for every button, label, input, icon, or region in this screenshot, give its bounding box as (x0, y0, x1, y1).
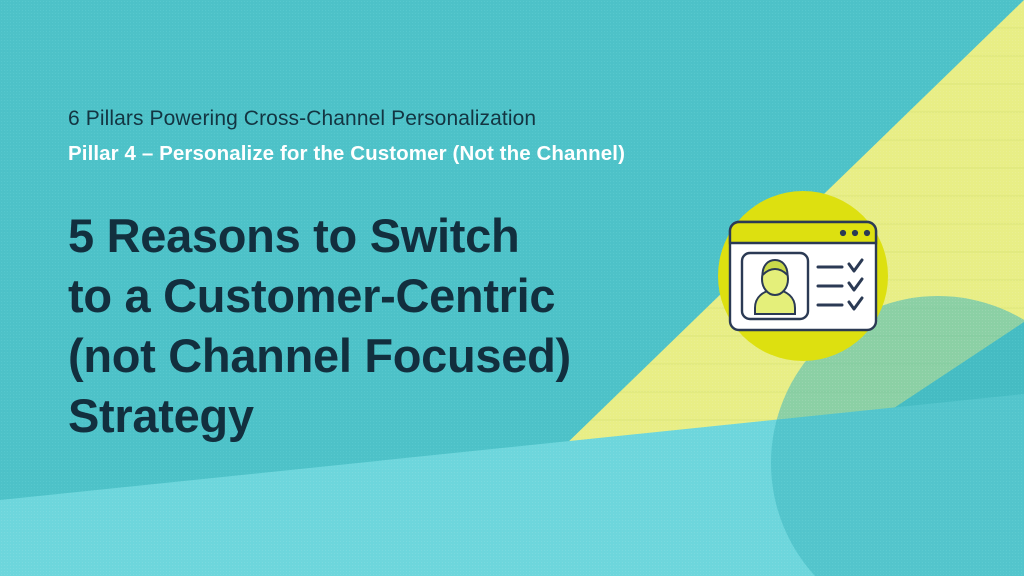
browser-window-dots-icon (840, 230, 870, 236)
customer-profile-browser-window-icon (697, 191, 909, 361)
headline-line-4: Strategy (68, 386, 668, 446)
page-title: 5 Reasons to Switch to a Customer-Centri… (68, 206, 668, 446)
headline-line-1: 5 Reasons to Switch (68, 206, 668, 266)
eyebrow-series-title: 6 Pillars Powering Cross-Channel Persona… (68, 104, 668, 134)
headline-line-2: to a Customer-Centric (68, 266, 668, 326)
text-block: 6 Pillars Powering Cross-Channel Persona… (68, 104, 668, 446)
eyebrow-pillar-subtitle: Pillar 4 – Personalize for the Customer … (68, 139, 668, 169)
slide-canvas: 6 Pillars Powering Cross-Channel Persona… (0, 0, 1024, 576)
headline-line-3: (not Channel Focused) (68, 326, 668, 386)
